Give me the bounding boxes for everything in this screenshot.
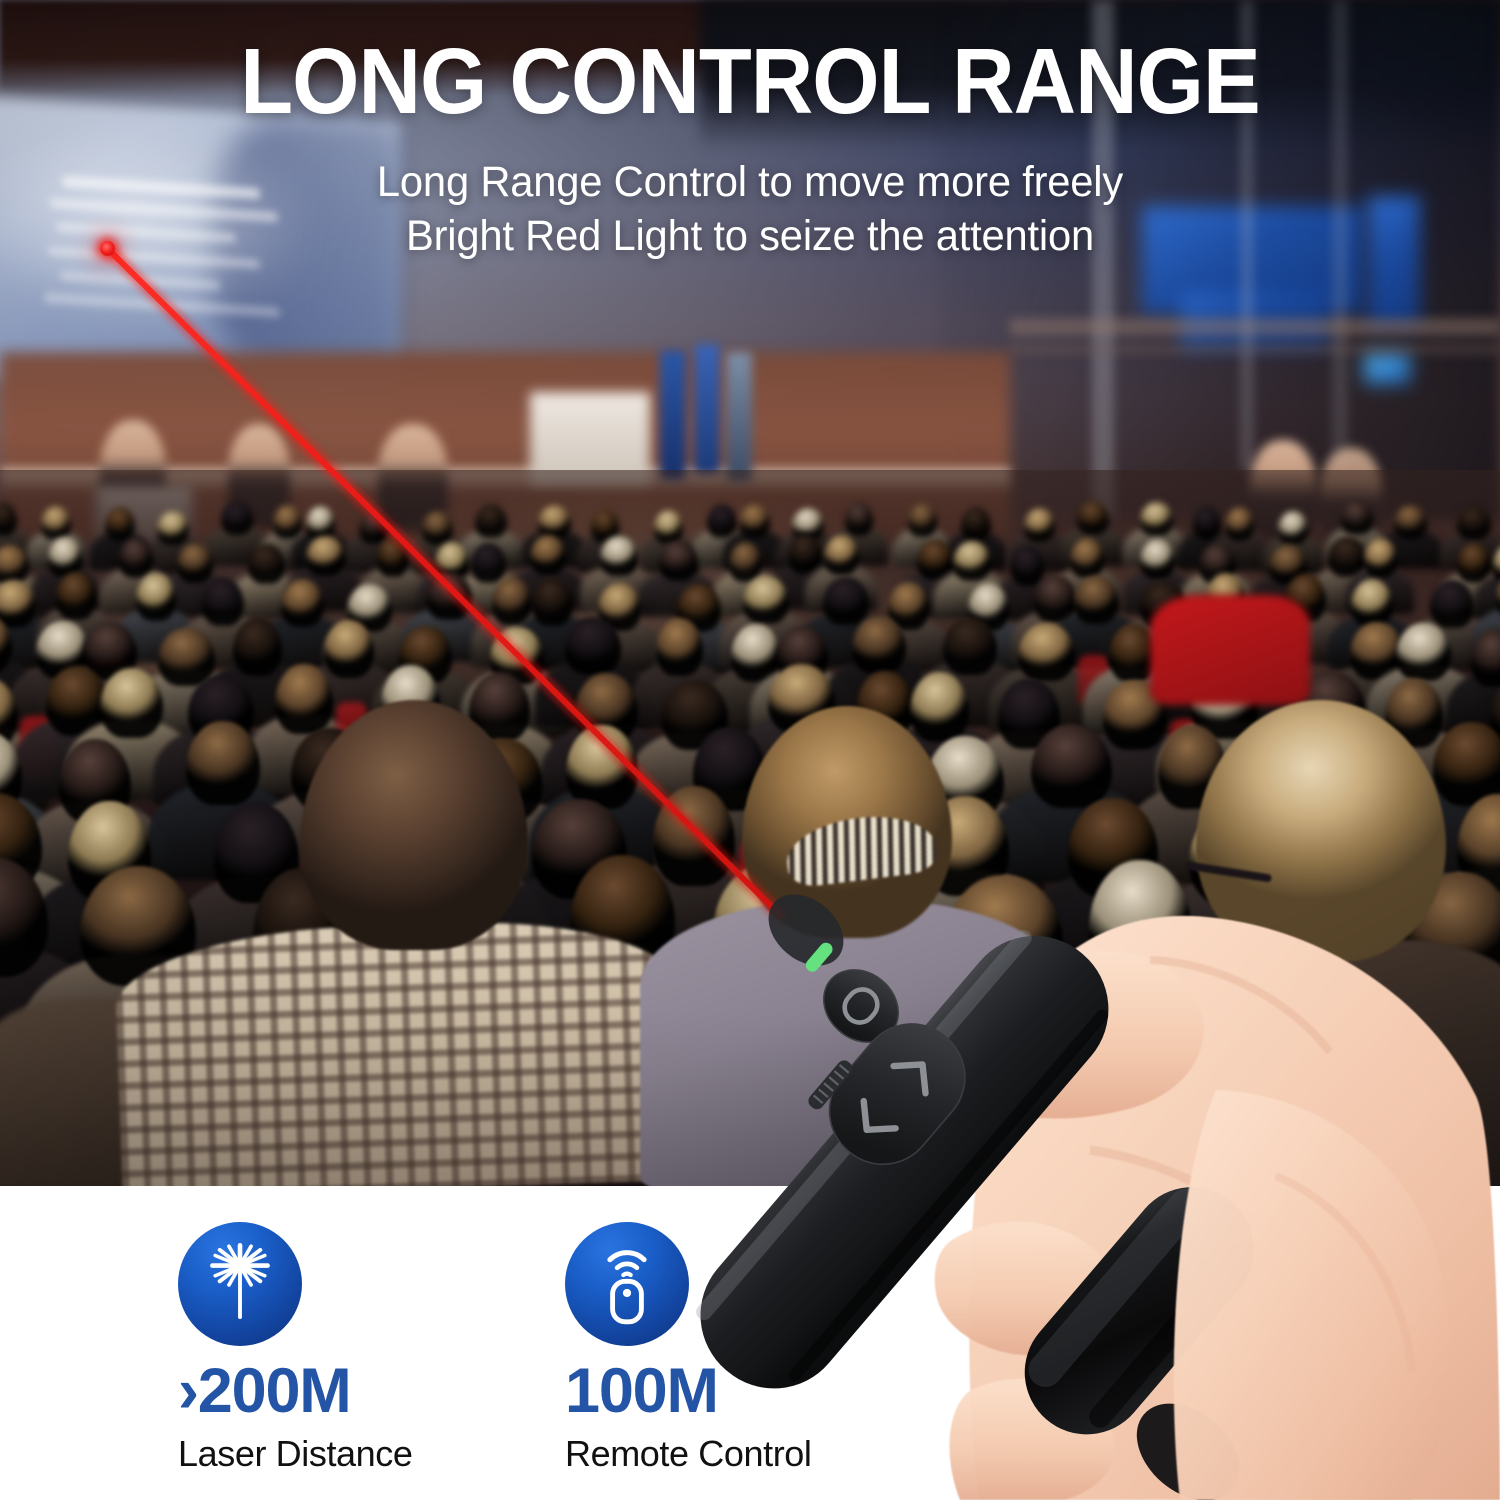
audience-head xyxy=(1193,506,1222,540)
audience-head xyxy=(943,617,998,675)
audience-head xyxy=(281,579,324,627)
audience-head xyxy=(565,617,621,675)
audience-head xyxy=(248,544,285,584)
audience-head xyxy=(1074,576,1118,624)
audience-head xyxy=(1341,501,1372,535)
audience-head xyxy=(1070,538,1104,578)
audience-head xyxy=(917,540,954,580)
window-mullion xyxy=(1010,318,1500,336)
audience-head xyxy=(1140,502,1173,536)
audience-head xyxy=(908,503,937,537)
flag xyxy=(660,350,686,480)
audience-head xyxy=(359,510,389,544)
foreground-person-right xyxy=(1120,940,1500,1186)
audience-head xyxy=(1394,505,1427,539)
audience-head xyxy=(475,504,507,538)
audience-head xyxy=(845,502,873,536)
feature-value: 100M xyxy=(565,1360,812,1423)
flag xyxy=(726,352,752,482)
flag xyxy=(694,344,720,474)
audience-head xyxy=(824,535,860,575)
audience-head xyxy=(739,504,770,538)
blue-display-panel xyxy=(1364,352,1410,384)
audience-head xyxy=(1018,623,1075,681)
laser-burst-icon xyxy=(178,1222,302,1346)
audience-head xyxy=(492,577,532,625)
audience-head xyxy=(136,573,176,621)
audience-head xyxy=(953,541,991,581)
audience-head xyxy=(275,664,332,734)
audience-head xyxy=(729,542,762,582)
audience-head xyxy=(852,616,905,674)
audience-head xyxy=(41,506,71,540)
audience-head xyxy=(105,507,136,541)
audience-head xyxy=(471,543,506,583)
audience-head xyxy=(1140,539,1175,579)
audience-head xyxy=(1396,623,1451,681)
audience-head xyxy=(221,501,254,535)
audience-head xyxy=(654,510,683,544)
audience-head xyxy=(1457,506,1490,540)
audience-head xyxy=(659,541,698,581)
foreground-person-grey-sweater xyxy=(640,900,1060,1186)
subtitle-line-1: Long Range Control to move more freely xyxy=(23,158,1478,207)
red-jacket xyxy=(1150,595,1310,705)
feature-label: Laser Distance xyxy=(178,1436,413,1472)
remote-signal-icon xyxy=(565,1222,689,1346)
audience-head xyxy=(426,572,472,620)
feature-value-prefix: › xyxy=(178,1356,198,1426)
audience-head xyxy=(600,536,638,576)
feature-bar: ›200M Laser Distance 100M Remote Control xyxy=(0,1186,1500,1500)
audience-head xyxy=(273,505,301,539)
audience-head xyxy=(1457,543,1492,583)
audience-head xyxy=(202,578,244,626)
audience-head xyxy=(743,576,789,624)
audience-head xyxy=(823,577,870,625)
page-title: LONG CONTROL RANGE xyxy=(53,34,1448,129)
audience-head xyxy=(530,535,567,575)
feature-remote-control: 100M Remote Control xyxy=(565,1222,812,1472)
audience-head xyxy=(532,578,573,626)
subtitle-line-2: Bright Red Light to seize the attention xyxy=(23,212,1478,261)
feature-value-number: 200M xyxy=(198,1356,351,1426)
feature-laser-distance: ›200M Laser Distance xyxy=(178,1222,413,1472)
laser-burst-glyph xyxy=(194,1238,286,1330)
audience-head xyxy=(961,507,991,541)
audience-head xyxy=(306,506,335,540)
audience-head xyxy=(1077,501,1109,535)
feature-value: ›200M xyxy=(178,1360,413,1423)
audience-head xyxy=(233,618,282,676)
audience-head xyxy=(186,721,260,805)
audience-head xyxy=(1364,538,1397,578)
audience-head xyxy=(56,572,95,620)
audience-head xyxy=(538,505,571,539)
foreground-person-checked-shirt xyxy=(114,915,683,1186)
audience-head xyxy=(377,537,410,577)
feature-value-number: 100M xyxy=(565,1356,718,1426)
audience-head xyxy=(656,618,704,676)
audience-head xyxy=(566,725,637,809)
feature-label: Remote Control xyxy=(565,1436,812,1472)
audience-head xyxy=(422,511,453,545)
audience-head xyxy=(910,672,970,742)
audience-head xyxy=(119,538,154,578)
product-marketing-banner: ›200M Laser Distance 100M Remote Control xyxy=(0,0,1500,1500)
window-mullion xyxy=(1010,344,1500,354)
remote-signal-glyph xyxy=(582,1239,672,1329)
audience-head xyxy=(788,534,823,574)
audience-head xyxy=(306,536,345,576)
audience-head xyxy=(1351,579,1394,627)
audience-head xyxy=(1024,508,1055,542)
audience-head xyxy=(1011,546,1044,586)
audience-head xyxy=(1430,580,1474,628)
